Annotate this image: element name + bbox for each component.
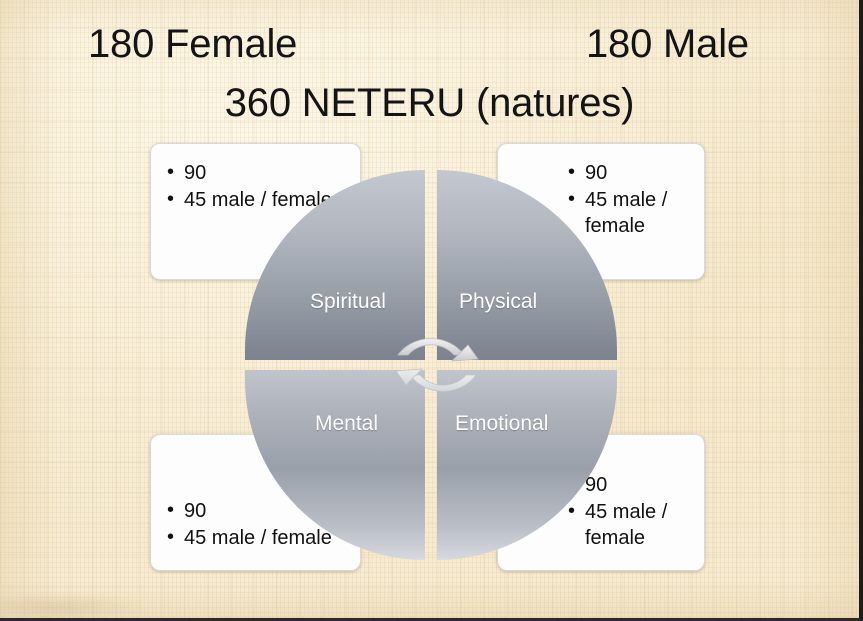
heading-total-neteru: 360 NETERU (natures) xyxy=(0,81,859,126)
background-smudge xyxy=(0,592,150,618)
quadrant-emotional[interactable]: Emotional xyxy=(437,370,617,560)
quadrant-mental[interactable]: Mental xyxy=(245,370,425,560)
neteru-circle-diagram: Spiritual Physical Mental Emotional xyxy=(245,170,617,560)
quadrant-label-spiritual: Spiritual xyxy=(310,290,386,314)
quadrant-label-physical: Physical xyxy=(459,290,537,314)
heading-male: 180 Male xyxy=(586,22,749,67)
quadrant-spiritual[interactable]: Spiritual xyxy=(245,170,425,360)
slide-canvas: 180 Female 180 Male 360 NETERU (natures)… xyxy=(0,0,863,621)
quadrant-label-mental: Mental xyxy=(315,412,378,436)
heading-female: 180 Female xyxy=(88,22,297,67)
quadrant-physical[interactable]: Physical xyxy=(437,170,617,360)
quadrant-label-emotional: Emotional xyxy=(455,412,548,436)
